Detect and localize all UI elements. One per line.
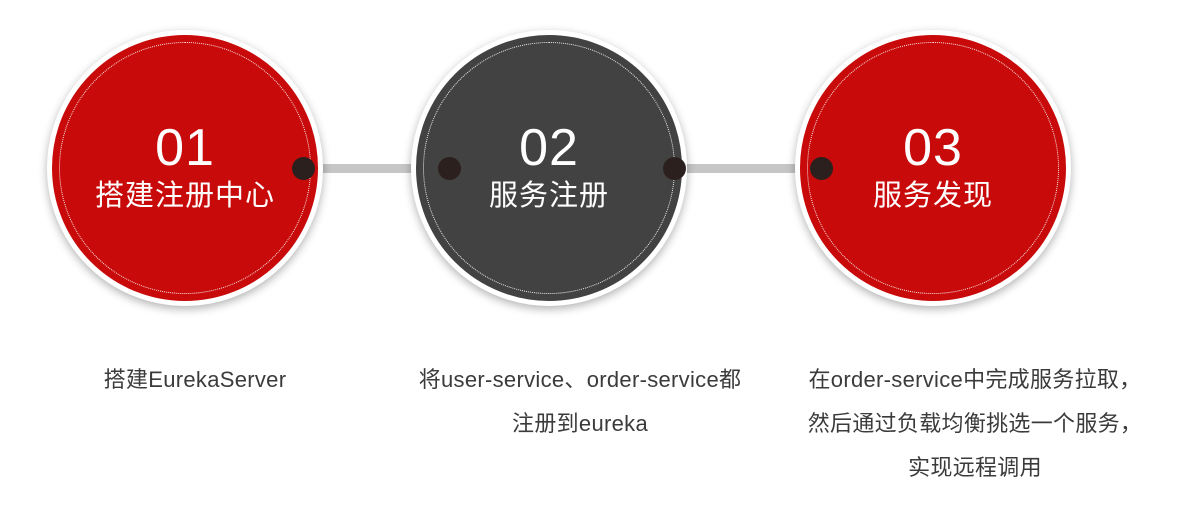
process-diagram: 01 搭建注册中心 02 服务注册 03 服务发现 搭建EurekaServer… [0,0,1180,514]
caption-text-03: 在order-service中完成服务拉取，然后通过负载均衡挑选一个服务，实现远… [808,367,1143,480]
caption-column-02: 将user-service、order-service都注册到eureka [390,358,770,490]
step-number-02: 02 [519,122,579,174]
step-circle-01[interactable]: 01 搭建注册中心 [47,30,323,306]
step-label-03: 服务发现 [873,180,993,213]
connector-dot-right-02 [663,157,686,180]
steps-row: 01 搭建注册中心 02 服务注册 03 服务发现 [0,0,1180,340]
caption-text-01: 搭建EurekaServer [104,367,287,392]
caption-text-02: 将user-service、order-service都注册到eureka [419,367,742,436]
connector-dot-left-03 [810,157,833,180]
caption-column-03: 在order-service中完成服务拉取，然后通过负载均衡挑选一个服务，实现远… [770,358,1180,490]
connector-dot-right-01 [292,157,315,180]
caption-column-01: 搭建EurekaServer [0,358,390,490]
step-label-01: 搭建注册中心 [95,180,275,213]
step-number-01: 01 [155,122,215,174]
captions-row: 搭建EurekaServer 将user-service、order-servi… [0,358,1180,490]
step-label-02: 服务注册 [489,180,609,213]
step-number-03: 03 [903,122,963,174]
connector-dot-left-02 [438,157,461,180]
step-circle-03[interactable]: 03 服务发现 [795,30,1071,306]
